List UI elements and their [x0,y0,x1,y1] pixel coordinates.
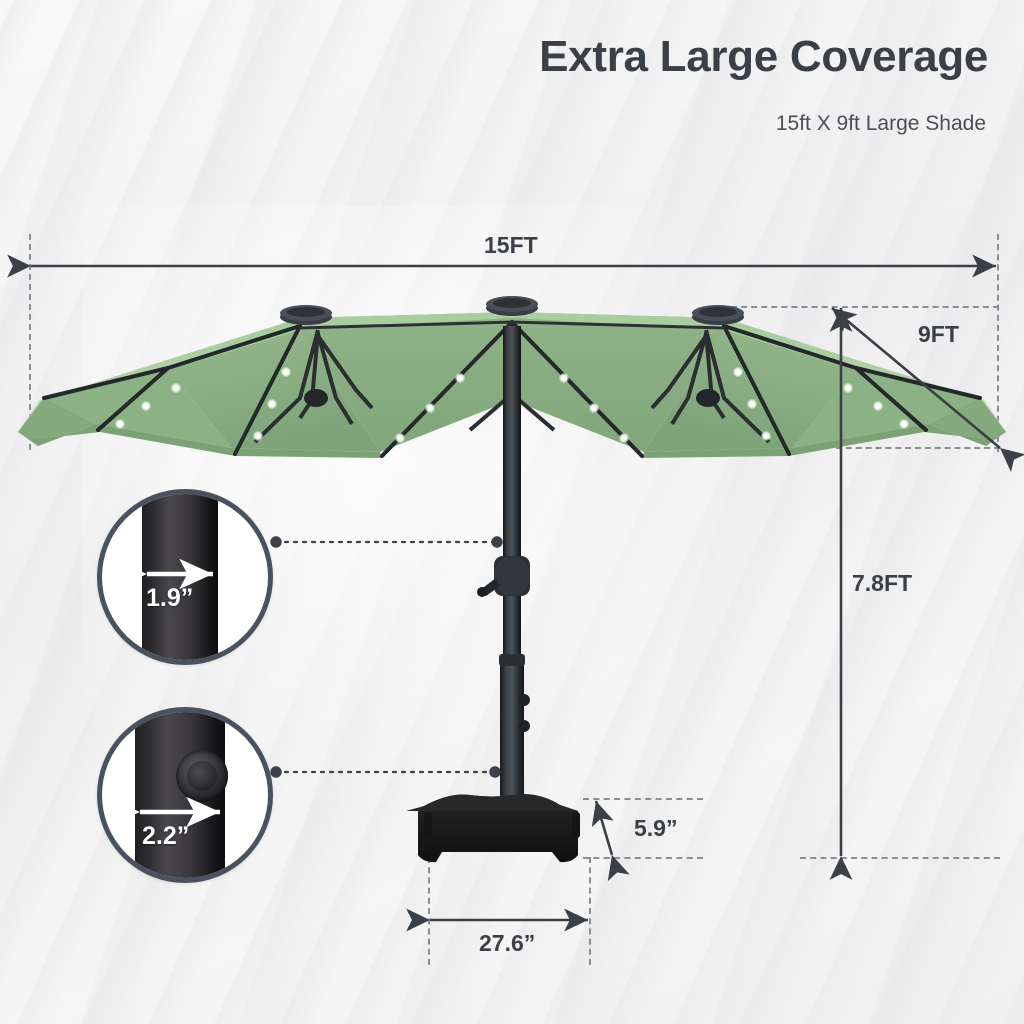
callout-lower-pole-diameter: 2.2” [97,707,273,883]
callout-arrow-lower [102,712,268,878]
callout-upper-pole-diameter: 1.9” [97,489,273,665]
callout-label-lower-pole: 2.2” [142,822,189,851]
callout-arrow-upper [102,494,268,660]
dimension-label-depth: 9FT [918,321,959,348]
umbrella-base [406,794,580,862]
callout-label-upper-pole: 1.9” [146,584,193,613]
dimension-label-base-width: 27.6” [479,930,535,957]
product-dimension-diagram: Extra Large Coverage 15ft X 9ft Large Sh… [0,0,1024,1024]
crank-handle [477,556,530,597]
dimension-label-height: 7.8FT [852,570,912,597]
dimension-label-width: 15FT [484,232,538,259]
dimension-label-base-height: 5.9” [634,815,677,842]
